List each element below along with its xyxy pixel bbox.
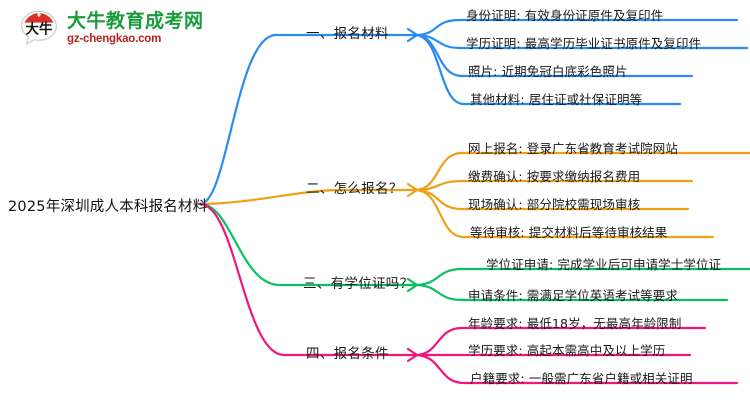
leaf-label-1-1[interactable]: 身份证明: 有效身份证原件及复印件 bbox=[466, 5, 663, 24]
leaf-label-4-1[interactable]: 年龄要求: 最低18岁，无最高年龄限制 bbox=[468, 313, 682, 332]
leaf-label-2-4[interactable]: 等待审核: 提交材料后等待审核结果 bbox=[470, 222, 667, 241]
daniu-speech-bubble-logo-icon: 大牛 bbox=[18, 8, 60, 50]
svg-text:大牛: 大牛 bbox=[26, 21, 53, 38]
branch-label-4[interactable]: 四、报名条件 bbox=[306, 342, 389, 362]
leaf-label-1-2[interactable]: 学历证明: 最高学历毕业证书原件及复印件 bbox=[466, 33, 701, 52]
leaf-label-4-3[interactable]: 户籍要求: 一般需广东省户籍或相关证明 bbox=[470, 368, 693, 387]
branch-label-3[interactable]: 三、有学位证吗？ bbox=[303, 272, 413, 292]
branch-label-2[interactable]: 二、怎么报名？ bbox=[306, 177, 403, 197]
leaf-label-2-1[interactable]: 网上报名: 登录广东省教育考试院网站 bbox=[468, 138, 678, 157]
leaf-label-1-4[interactable]: 其他材料: 居住证或社保证明等 bbox=[470, 89, 642, 108]
leaf-label-3-1[interactable]: 学位证申请: 完成学业后可申请学士学位证 bbox=[486, 254, 721, 273]
mindmap-canvas: 大牛 大牛教育成考网 gz-chengkao.com bbox=[0, 0, 750, 410]
branch-label-1[interactable]: 一、报名材料 bbox=[306, 22, 389, 42]
logo-subtitle: gz-chengkao.com bbox=[67, 34, 204, 46]
mindmap-root-label[interactable]: 2025年深圳成人本科报名材料 bbox=[8, 195, 207, 216]
leaf-label-3-2[interactable]: 申请条件: 需满足学位英语考试等要求 bbox=[468, 285, 678, 304]
leaf-label-2-2[interactable]: 缴费确认: 按要求缴纳报名费用 bbox=[468, 166, 640, 185]
leaf-label-1-3[interactable]: 照片: 近期免冠白底彩色照片 bbox=[468, 61, 628, 80]
logo-title: 大牛教育成考网 bbox=[67, 12, 204, 31]
site-logo[interactable]: 大牛 大牛教育成考网 gz-chengkao.com bbox=[18, 8, 204, 50]
leaf-label-4-2[interactable]: 学历要求: 高起本需高中及以上学历 bbox=[468, 340, 665, 359]
leaf-label-2-3[interactable]: 现场确认: 部分院校需现场审核 bbox=[468, 194, 640, 213]
